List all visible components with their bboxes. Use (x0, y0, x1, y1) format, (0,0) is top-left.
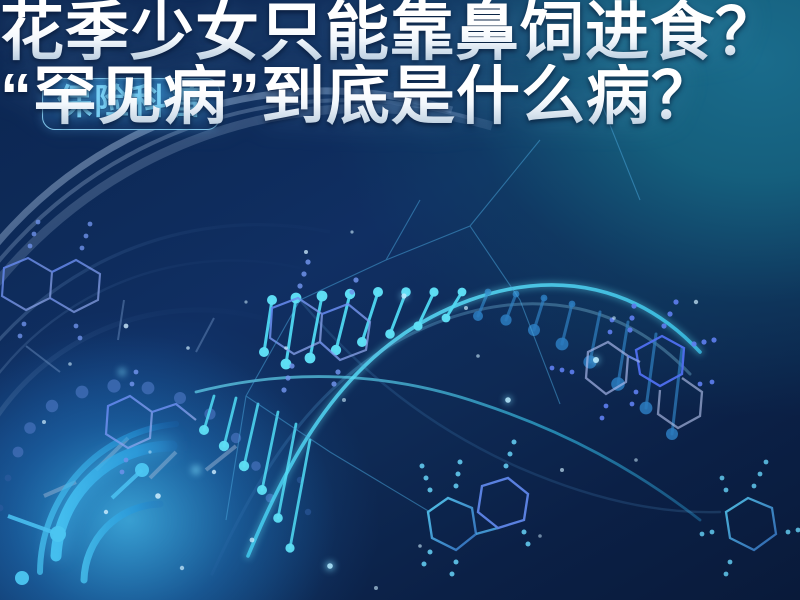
molecule-hexagon-bottom-right (726, 498, 776, 550)
molecule-biphenyl-bottom (428, 478, 528, 550)
molecule-bond-dots-right (550, 299, 717, 420)
molecule-hexagon-cluster-right (586, 336, 702, 428)
molecule-bond-dots-bottom (420, 440, 531, 577)
poster-title-line-2: “罕见病”到底是什么病？ (0, 64, 800, 128)
poster-canvas: 保险科普 花季少女只能靠鼻饲进食？ “罕见病”到底是什么病？ (0, 0, 800, 600)
molecule-bond-dots-br (700, 460, 800, 577)
poster-title-line-1: 花季少女只能靠鼻饲进食？ (0, 0, 800, 64)
poster-text-block: 保险科普 花季少女只能靠鼻饲进食？ “罕见病”到底是什么病？ (0, 0, 800, 300)
